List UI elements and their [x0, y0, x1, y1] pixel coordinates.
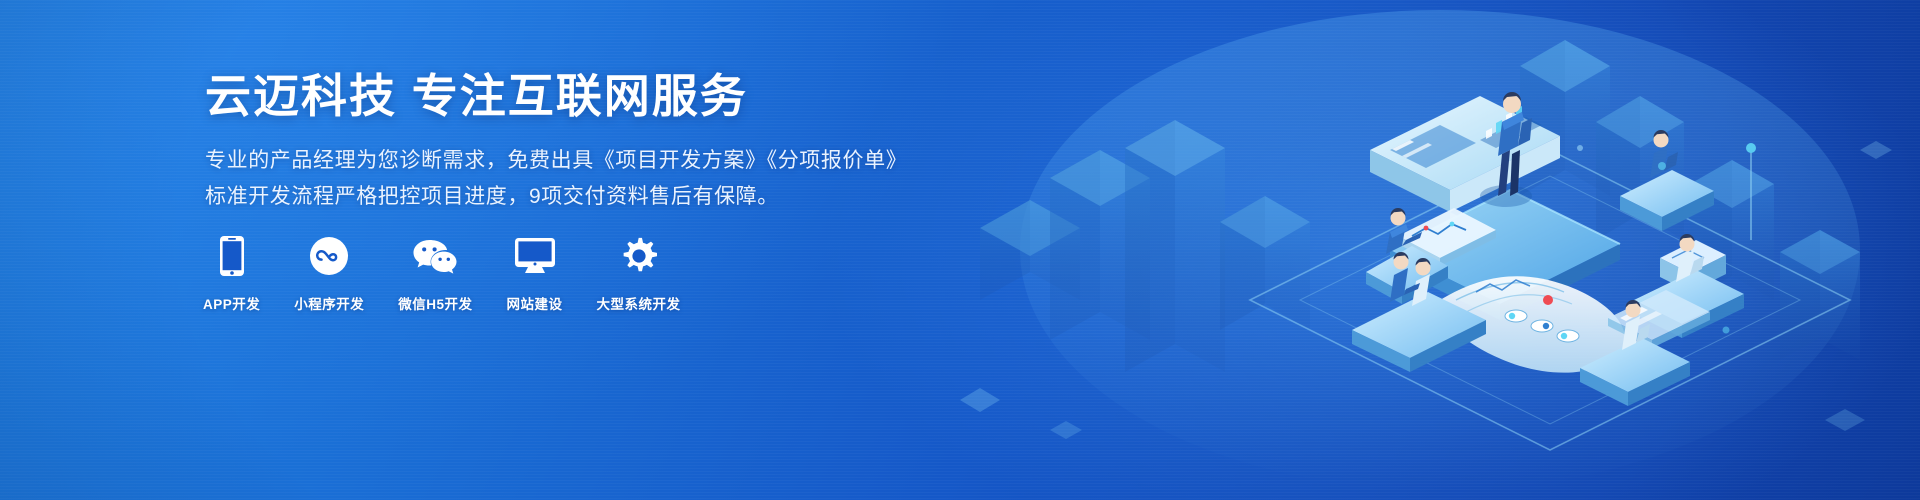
service-item-app[interactable]: APP开发 — [203, 232, 260, 314]
service-item-mini-program[interactable]: 小程序开发 — [294, 232, 364, 314]
service-label: 大型系统开发 — [597, 296, 681, 314]
service-label: 小程序开发 — [294, 296, 364, 314]
hero-copy: 云迈科技 专注互联网服务 专业的产品经理为您诊断需求，免费出具《项目开发方案》《… — [205, 66, 925, 218]
service-label: 网站建设 — [507, 296, 563, 314]
mini-program-icon — [301, 232, 357, 280]
hero-banner: 云迈科技 专注互联网服务 专业的产品经理为您诊断需求，免费出具《项目开发方案》《… — [0, 0, 1920, 500]
service-item-website[interactable]: 网站建设 — [507, 232, 563, 314]
service-list: APP开发 小程序开发 微信 — [203, 232, 681, 314]
hero-subtitle: 专业的产品经理为您诊断需求，免费出具《项目开发方案》《分项报价单》 标准开发流程… — [205, 146, 925, 212]
gear-icon — [611, 232, 667, 280]
subtitle-line-2: 标准开发流程严格把控项目进度，9项交付资料售后有保障。 — [205, 182, 925, 212]
phone-icon — [204, 232, 260, 280]
page-title: 云迈科技 专注互联网服务 — [205, 66, 925, 126]
subtitle-line-1: 专业的产品经理为您诊断需求，免费出具《项目开发方案》《分项报价单》 — [205, 146, 925, 176]
hero-illustration — [920, 0, 1920, 500]
wechat-icon — [407, 232, 463, 280]
service-label: 微信H5开发 — [398, 296, 472, 314]
monitor-icon — [507, 232, 563, 280]
service-item-large-system[interactable]: 大型系统开发 — [597, 232, 681, 314]
service-label: APP开发 — [203, 296, 260, 314]
service-item-wechat-h5[interactable]: 微信H5开发 — [398, 232, 472, 314]
